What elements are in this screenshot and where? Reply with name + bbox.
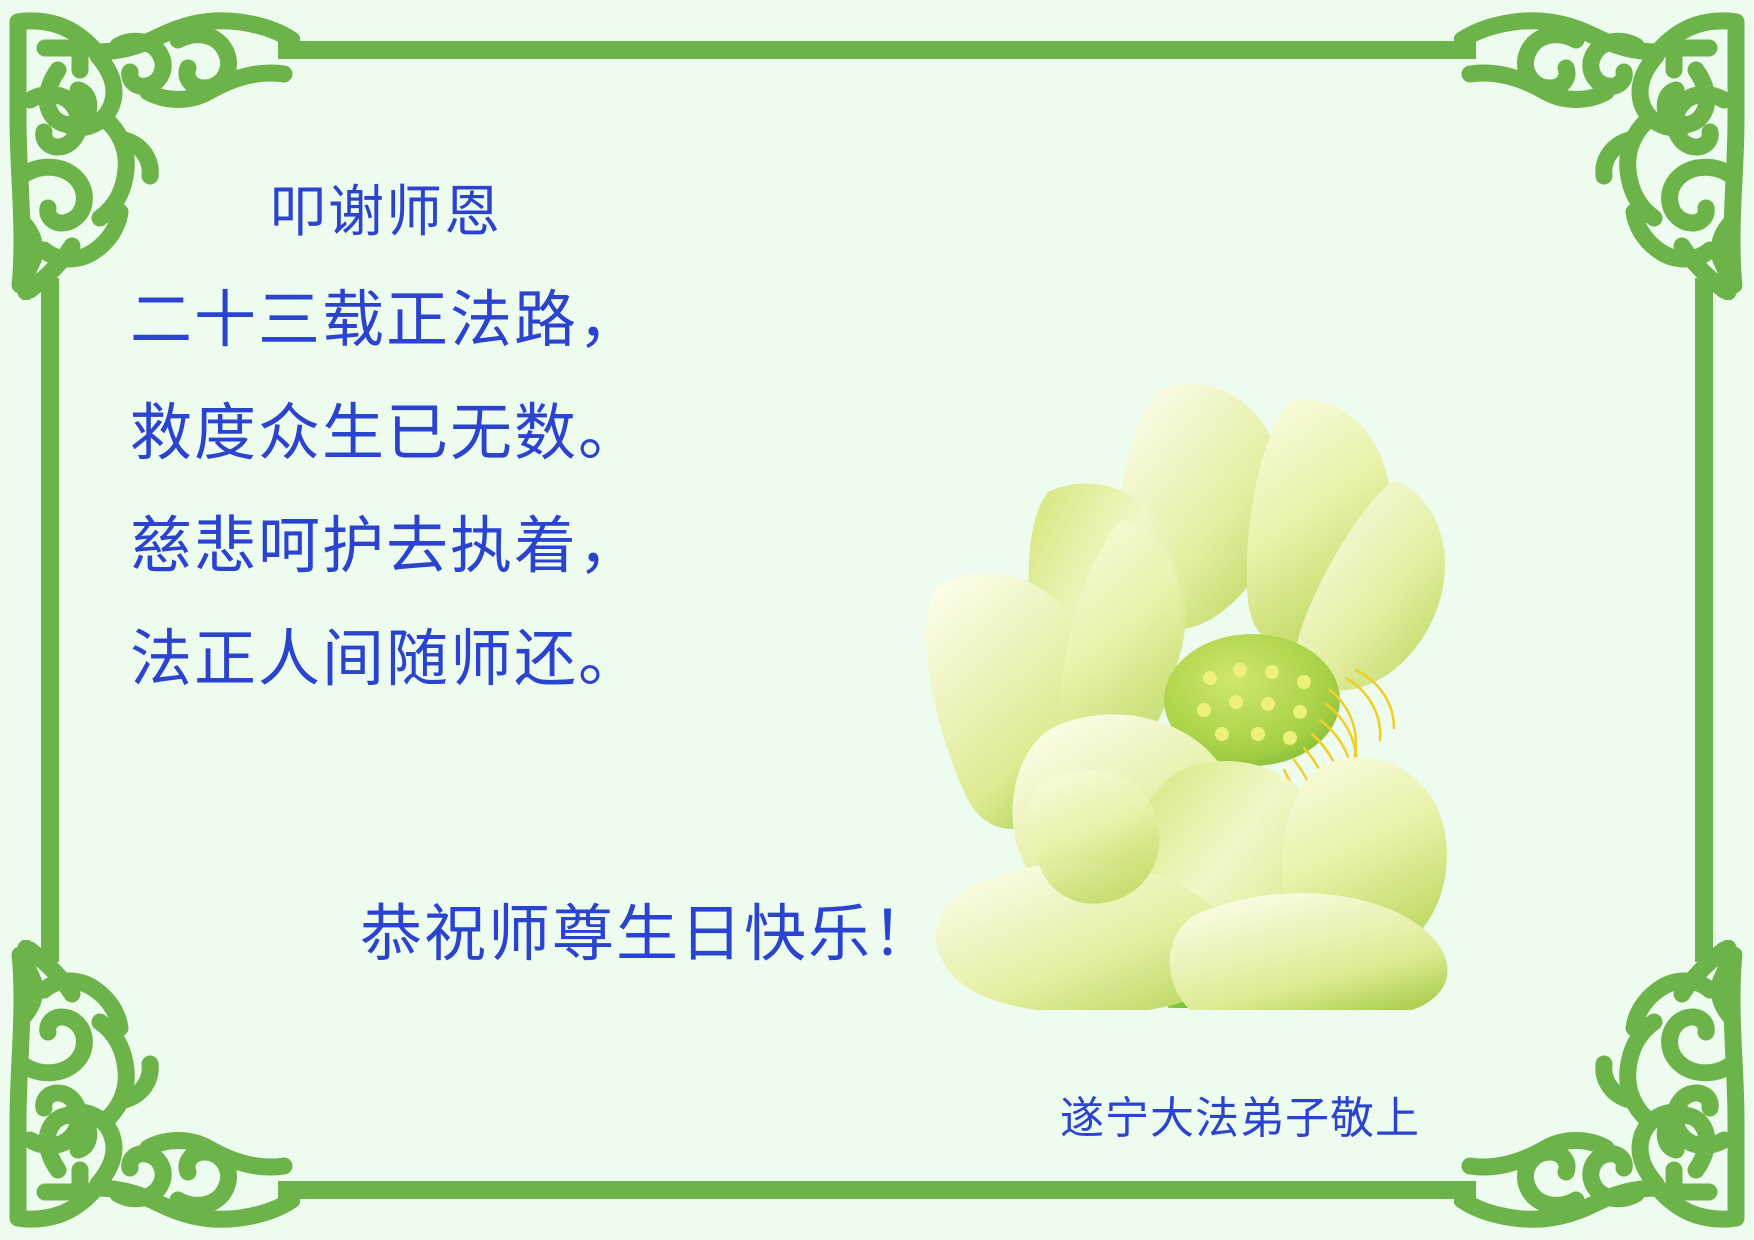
birthday-greeting: 恭祝师尊生日快乐！ — [360, 898, 936, 972]
poem-line-4: 法正人间随师还。 — [130, 603, 950, 716]
poem-line-2: 救度众生已无数。 — [130, 377, 950, 490]
card-content: 叩谢师恩 二十三载正法路， 救度众生已无数。 慈悲呵护去执着， 法正人间随师还。… — [0, 0, 1754, 1240]
poem-line-3: 慈悲呵护去执着， — [130, 490, 950, 603]
signature-line: 遂宁大法弟子敬上 — [1060, 1092, 1420, 1146]
poem-block: 叩谢师恩 二十三载正法路， 救度众生已无数。 慈悲呵护去执着， 法正人间随师还。 — [130, 160, 950, 716]
greeting-card: 叩谢师恩 二十三载正法路， 救度众生已无数。 慈悲呵护去执着， 法正人间随师还。… — [0, 0, 1754, 1240]
poem-title: 叩谢师恩 — [130, 160, 950, 264]
poem-line-1: 二十三载正法路， — [130, 264, 950, 377]
